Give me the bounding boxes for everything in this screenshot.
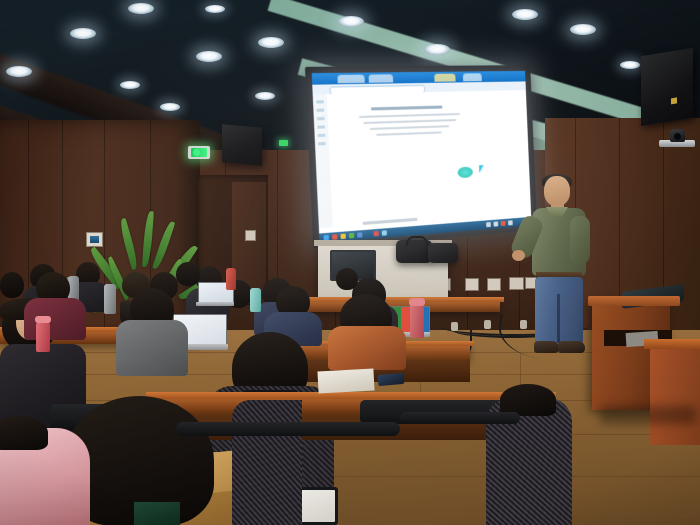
ceiling-exit-marker xyxy=(279,140,288,146)
person-tweed-right-arm xyxy=(232,400,302,525)
floor-box xyxy=(484,320,491,329)
lectern-shadow xyxy=(600,406,696,424)
light-switch[interactable] xyxy=(245,230,256,241)
person-pink-jacket-hair xyxy=(0,416,48,450)
thermos-steel xyxy=(104,284,116,314)
downlight xyxy=(512,9,538,20)
audience-head xyxy=(0,272,24,298)
downlight xyxy=(620,61,640,69)
laptop-base xyxy=(196,302,234,306)
phone-on-desk[interactable] xyxy=(378,373,405,386)
cursor-arrow-icon xyxy=(479,165,484,173)
desk-edge xyxy=(296,297,504,302)
downlight xyxy=(128,3,154,14)
downlight xyxy=(570,24,596,35)
wall-speaker-left xyxy=(222,124,262,165)
downlight xyxy=(70,28,96,39)
person-rust-sweater-body xyxy=(328,326,406,370)
downlight xyxy=(338,16,364,27)
thermos-pink-cap xyxy=(409,298,425,306)
chair-rail xyxy=(400,412,520,424)
downlight xyxy=(205,5,225,13)
downlight xyxy=(196,51,222,62)
presenter-shoe xyxy=(558,341,585,353)
projection-screen xyxy=(312,71,532,243)
presenter-left-hand xyxy=(512,250,525,261)
presenter-leg-seam xyxy=(557,294,560,343)
status-text xyxy=(363,218,417,225)
downlight xyxy=(424,44,450,55)
person-grey-body xyxy=(116,320,188,376)
downlight xyxy=(160,103,180,111)
bag-handle xyxy=(406,236,428,246)
chair-rail xyxy=(176,422,400,436)
floor-box xyxy=(451,322,458,331)
page-content xyxy=(327,90,531,227)
black-bag xyxy=(428,243,458,263)
wall-speaker-right xyxy=(641,48,693,126)
downlight xyxy=(255,92,275,100)
downlight xyxy=(258,37,284,48)
lecture-hall-photo: Lecture hall presentation A man presents… xyxy=(0,0,700,525)
exit-sign xyxy=(188,146,210,159)
bottle-red xyxy=(36,322,50,352)
thermos-pink xyxy=(410,304,424,338)
lectern-right-back xyxy=(650,345,700,445)
downlight xyxy=(120,81,140,89)
wall-switch-plate[interactable] xyxy=(487,278,501,291)
wall-outlet[interactable] xyxy=(465,278,479,291)
bottle-red-back xyxy=(226,268,236,290)
lectern-right-back-top xyxy=(644,339,700,349)
desk-edge xyxy=(146,392,556,399)
bottle-teal xyxy=(250,288,261,312)
presenter-right-arm xyxy=(570,216,590,264)
downlight xyxy=(6,66,32,77)
presenter-shoe xyxy=(534,341,559,353)
notebook xyxy=(317,369,374,394)
lectern-top-edge xyxy=(588,296,680,306)
person-camel-coat-scarf xyxy=(134,502,180,525)
bottle-red-cap xyxy=(35,316,51,323)
audience-head xyxy=(336,268,358,290)
presenter xyxy=(518,176,600,356)
person-maroon-body xyxy=(24,298,86,340)
ptz-camera xyxy=(659,129,695,148)
